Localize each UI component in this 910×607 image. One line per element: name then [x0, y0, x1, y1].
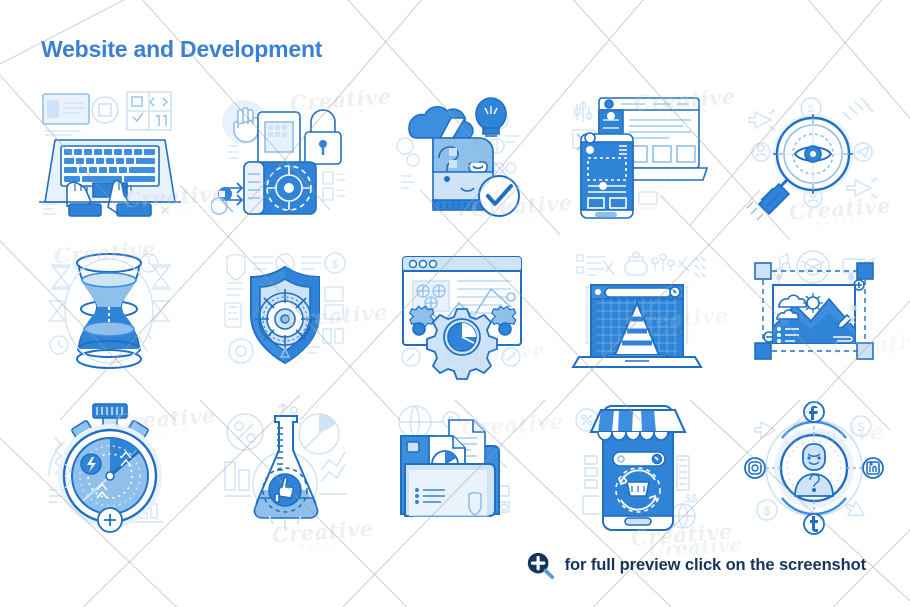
svg-text:S: S [857, 420, 865, 434]
icon-tile-laptop-under-construction[interactable]: Creative MARKET [550, 233, 726, 390]
icon-tile-folder-documents[interactable]: Creative MARKET [374, 389, 550, 546]
icon-tile-browser-gears-settings[interactable]: Creative MARKET [374, 233, 550, 390]
icon-tile-social-media-network[interactable]: S $ Creative MARKET [726, 389, 902, 546]
icon-tile-stopwatch-speed[interactable]: Creative MARKET [22, 389, 198, 546]
svg-text:S: S [807, 103, 814, 115]
icon-tile-security-padlock-key[interactable]: Creative MARKET [198, 76, 374, 233]
svg-text:$: $ [764, 504, 771, 518]
svg-text:$: $ [332, 259, 338, 271]
icon-grid: Creative MARKET [22, 76, 902, 546]
preview-caption[interactable]: for full preview click on the screenshot [525, 550, 866, 580]
icon-tile-flask-analytics[interactable]: Creative MARKET [198, 389, 374, 546]
icon-tile-seo-magnifier-eye[interactable]: S [726, 76, 902, 233]
preview-canvas: Website and Development [0, 0, 910, 607]
magnifier-plus-icon [525, 550, 555, 580]
icon-tile-responsive-web-design[interactable]: Creative MARKET [550, 76, 726, 233]
caption-text: for full preview click on the screenshot [565, 556, 866, 575]
icon-tile-mobile-ecommerce-shop[interactable]: $$ [550, 389, 726, 546]
icon-tile-coding-laptop-hands[interactable]: Creative MARKET [22, 76, 198, 233]
icon-tile-hourglass-time[interactable]: Creative MARKET [22, 233, 198, 390]
page-title: Website and Development [41, 36, 322, 63]
icon-tile-image-editing-selection[interactable]: Creative MARKET [726, 233, 902, 390]
icon-tile-shield-helm-protection[interactable]: $ [198, 233, 374, 390]
icon-tile-ai-head-cloud-idea[interactable]: Creative MARKET [374, 76, 550, 233]
svg-text:$$: $$ [685, 493, 697, 505]
